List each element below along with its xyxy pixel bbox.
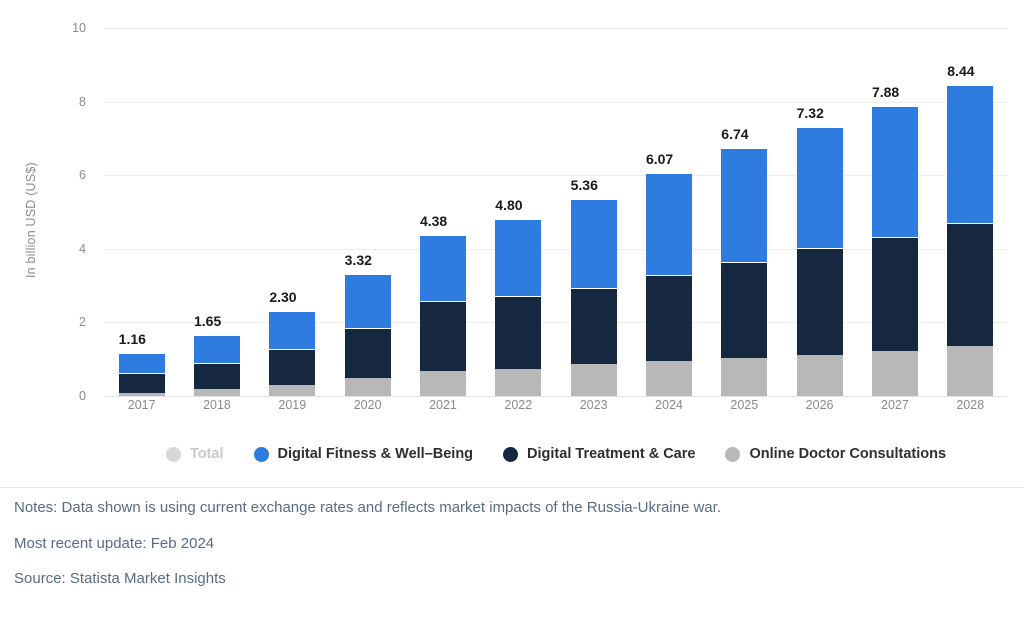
bar-stack[interactable]: 5.36 — [571, 199, 617, 396]
footer-update: Most recent update: Feb 2024 — [14, 534, 1008, 554]
bar-segment[interactable] — [872, 237, 918, 351]
bar-segment[interactable] — [797, 355, 843, 396]
bar-stack[interactable]: 1.16 — [119, 353, 165, 396]
bar-segment[interactable] — [420, 371, 466, 396]
legend-label: Digital Treatment & Care — [527, 446, 695, 462]
bar-segment[interactable] — [345, 274, 391, 328]
bar-column[interactable]: 2.30 — [255, 28, 330, 396]
bar-segment[interactable] — [646, 173, 692, 275]
bar-total-label: 7.32 — [797, 105, 824, 121]
bar-segment[interactable] — [721, 148, 767, 262]
x-axis-tick-label: 2018 — [179, 398, 254, 412]
bar-stack[interactable]: 2.30 — [269, 311, 315, 396]
bar-column[interactable]: 6.74 — [707, 28, 782, 396]
chart-page: In billion USD (US$) 0246810 1.161.652.3… — [0, 0, 1024, 624]
bar-segment[interactable] — [119, 393, 165, 396]
x-axis-tick-label: 2020 — [330, 398, 405, 412]
gridline — [104, 396, 1008, 397]
x-axis-tick-label: 2028 — [933, 398, 1008, 412]
bar-column[interactable]: 6.07 — [631, 28, 706, 396]
bar-segment[interactable] — [345, 378, 391, 396]
y-axis-tick-label: 6 — [52, 168, 86, 182]
bar-total-label: 6.74 — [721, 126, 748, 142]
legend-swatch-icon — [725, 447, 740, 462]
legend-label: Total — [190, 446, 224, 462]
y-axis-title: In billion USD (US$) — [24, 140, 46, 300]
footer-source: Source: Statista Market Insights — [14, 569, 1008, 589]
legend-swatch-icon — [503, 447, 518, 462]
bar-total-label: 4.38 — [420, 213, 447, 229]
bar-stack[interactable]: 1.65 — [194, 335, 240, 396]
legend-label: Online Doctor Consultations — [749, 446, 946, 462]
bar-segment[interactable] — [947, 346, 993, 396]
bar-segment[interactable] — [119, 373, 165, 393]
legend-item[interactable]: Online Doctor Consultations — [725, 446, 946, 462]
y-axis-tick-label: 2 — [52, 315, 86, 329]
bar-column[interactable]: 1.16 — [104, 28, 179, 396]
chart-legend: TotalDigital Fitness & Well–BeingDigital… — [104, 440, 1008, 468]
bar-segment[interactable] — [646, 361, 692, 396]
legend-swatch-icon — [166, 447, 181, 462]
y-axis-tick-label: 4 — [52, 242, 86, 256]
bar-segment[interactable] — [194, 335, 240, 363]
x-axis-tick-label: 2019 — [255, 398, 330, 412]
bar-series: 1.161.652.303.324.384.805.366.076.747.32… — [104, 28, 1008, 396]
y-axis-tick-label: 10 — [52, 21, 86, 35]
bar-stack[interactable]: 7.88 — [872, 106, 918, 396]
bar-segment[interactable] — [495, 369, 541, 396]
bar-segment[interactable] — [646, 275, 692, 361]
bar-column[interactable]: 5.36 — [556, 28, 631, 396]
x-axis-tick-label: 2025 — [707, 398, 782, 412]
x-axis-tick-label: 2026 — [782, 398, 857, 412]
bar-column[interactable]: 4.38 — [405, 28, 480, 396]
bar-total-label: 5.36 — [571, 177, 598, 193]
bar-stack[interactable]: 6.74 — [721, 148, 767, 396]
bar-segment[interactable] — [194, 363, 240, 389]
bar-segment[interactable] — [269, 385, 315, 396]
bar-stack[interactable]: 7.32 — [797, 127, 843, 396]
chart-footer: Notes: Data shown is using current excha… — [14, 498, 1008, 605]
bar-stack[interactable]: 4.80 — [495, 219, 541, 396]
bar-segment[interactable] — [571, 288, 617, 364]
legend-item[interactable]: Digital Treatment & Care — [503, 446, 695, 462]
y-axis-tick-label: 8 — [52, 95, 86, 109]
bar-segment[interactable] — [194, 389, 240, 396]
bar-total-label: 3.32 — [345, 252, 372, 268]
bar-total-label: 8.44 — [947, 63, 974, 79]
bar-segment[interactable] — [269, 349, 315, 385]
bar-segment[interactable] — [571, 199, 617, 288]
y-axis-tick-label: 0 — [52, 389, 86, 403]
footer-divider — [0, 487, 1024, 488]
bar-total-label: 1.65 — [194, 313, 221, 329]
bar-stack[interactable]: 3.32 — [345, 274, 391, 396]
plot-area: 1.161.652.303.324.384.805.366.076.747.32… — [104, 28, 1008, 396]
bar-column[interactable]: 4.80 — [481, 28, 556, 396]
legend-swatch-icon — [254, 447, 269, 462]
bar-column[interactable]: 7.32 — [782, 28, 857, 396]
bar-total-label: 2.30 — [269, 289, 296, 305]
bar-column[interactable]: 7.88 — [857, 28, 932, 396]
bar-segment[interactable] — [872, 351, 918, 396]
bar-segment[interactable] — [947, 85, 993, 223]
bar-segment[interactable] — [721, 262, 767, 358]
bar-segment[interactable] — [721, 358, 767, 396]
bar-total-label: 7.88 — [872, 84, 899, 100]
bar-segment[interactable] — [420, 235, 466, 301]
bar-column[interactable]: 1.65 — [179, 28, 254, 396]
bar-segment[interactable] — [345, 328, 391, 379]
bar-segment[interactable] — [420, 301, 466, 371]
bar-segment[interactable] — [571, 364, 617, 396]
bar-segment[interactable] — [872, 106, 918, 237]
bar-column[interactable]: 3.32 — [330, 28, 405, 396]
x-axis-tick-label: 2023 — [556, 398, 631, 412]
bar-total-label: 6.07 — [646, 151, 673, 167]
bar-column[interactable]: 8.44 — [933, 28, 1008, 396]
bar-stack[interactable]: 4.38 — [420, 235, 466, 396]
bar-segment[interactable] — [269, 311, 315, 349]
bar-stack[interactable]: 6.07 — [646, 173, 692, 396]
bar-segment[interactable] — [797, 248, 843, 355]
legend-item[interactable]: Total — [166, 446, 224, 462]
legend-label: Digital Fitness & Well–Being — [278, 446, 474, 462]
legend-item[interactable]: Digital Fitness & Well–Being — [254, 446, 474, 462]
x-axis-tick-label: 2017 — [104, 398, 179, 412]
bar-segment[interactable] — [495, 219, 541, 296]
x-axis-tick-label: 2024 — [631, 398, 706, 412]
bar-segment[interactable] — [495, 296, 541, 369]
x-axis-tick-label: 2027 — [857, 398, 932, 412]
x-axis-tick-label: 2021 — [405, 398, 480, 412]
bar-total-label: 4.80 — [495, 197, 522, 213]
bar-segment[interactable] — [947, 223, 993, 346]
bar-total-label: 1.16 — [119, 331, 146, 347]
bar-segment[interactable] — [797, 127, 843, 248]
chart-area: In billion USD (US$) 0246810 1.161.652.3… — [0, 0, 1024, 430]
x-axis-tick-label: 2022 — [481, 398, 556, 412]
footer-notes: Notes: Data shown is using current excha… — [14, 498, 1008, 518]
x-axis-ticks: 2017201820192020202120222023202420252026… — [104, 398, 1008, 422]
bar-segment[interactable] — [119, 353, 165, 373]
bar-stack[interactable]: 8.44 — [947, 85, 993, 396]
